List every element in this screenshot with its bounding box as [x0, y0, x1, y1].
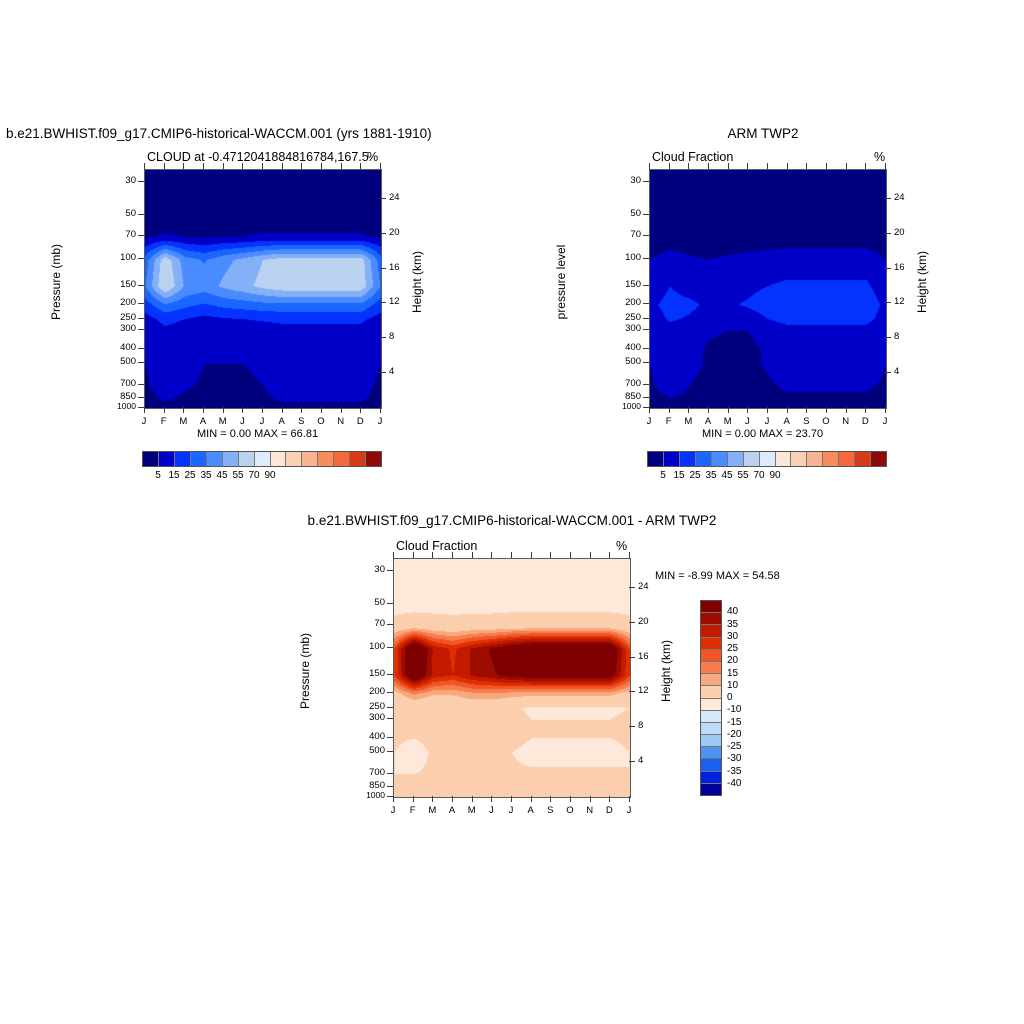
month-tick-label: J: [136, 416, 152, 427]
pressure-tick-label: 300: [100, 323, 136, 334]
colorbar-tick-label: 25: [727, 643, 757, 654]
diff-subtitle-left: Cloud Fraction: [396, 539, 477, 553]
height-tick-label: 16: [638, 651, 660, 662]
pressure-tick-label: 850: [100, 391, 136, 402]
colorbar-tick-label: 5: [649, 470, 677, 481]
month-tick-label: S: [798, 416, 814, 427]
colorbar-tick-label: 40: [727, 606, 757, 617]
pressure-tick-label: 50: [349, 597, 385, 608]
pressure-tick-label: 70: [349, 618, 385, 629]
pressure-tick-label: 300: [349, 712, 385, 723]
month-tick-label: M: [424, 805, 440, 816]
month-tick-label: N: [333, 416, 349, 427]
height-tick-label: 24: [894, 192, 916, 203]
colorbar-swatch: [143, 452, 159, 466]
colorbar-swatch: [701, 601, 721, 613]
model-ylabel-right: Height (km): [410, 222, 424, 342]
colorbar-tick-label: -35: [727, 766, 757, 777]
month-tick-label: A: [444, 805, 460, 816]
pressure-tick-label: 50: [605, 208, 641, 219]
month-tick-label: N: [582, 805, 598, 816]
pressure-tick-label: 400: [100, 342, 136, 353]
colorbar-swatch: [701, 711, 721, 723]
month-tick-label: A: [195, 416, 211, 427]
colorbar-swatch: [302, 452, 318, 466]
height-tick-label: 24: [389, 192, 411, 203]
model-heatmap-plot: [144, 169, 382, 409]
month-tick-label: M: [464, 805, 480, 816]
colorbar-tick-label: -10: [727, 704, 757, 715]
colorbar-swatch: [366, 452, 381, 466]
obs-ylabel-right: Height (km): [915, 222, 929, 342]
pressure-tick-label: 150: [605, 279, 641, 290]
month-tick-label: D: [601, 805, 617, 816]
pressure-tick-label: 850: [605, 391, 641, 402]
pressure-tick-label: 250: [100, 312, 136, 323]
colorbar-swatch: [175, 452, 191, 466]
height-tick-label: 4: [894, 366, 916, 377]
month-tick-label: A: [779, 416, 795, 427]
obs-subtitle-right: %: [874, 150, 885, 164]
colorbar-swatch: [701, 699, 721, 711]
colorbar-swatch: [744, 452, 760, 466]
month-tick-label: A: [523, 805, 539, 816]
obs-subtitle-left: Cloud Fraction: [652, 150, 733, 164]
month-tick-label: J: [739, 416, 755, 427]
obs-colorbar: [647, 451, 887, 467]
height-tick-label: 12: [894, 296, 916, 307]
month-tick-label: J: [234, 416, 250, 427]
pressure-tick-label: 70: [605, 229, 641, 240]
colorbar-tick-label: -15: [727, 717, 757, 728]
pressure-tick-label: 50: [100, 208, 136, 219]
month-tick-label: J: [254, 416, 270, 427]
month-tick-label: O: [313, 416, 329, 427]
colorbar-tick-label: 15: [160, 470, 188, 481]
colorbar-tick-label: -30: [727, 753, 757, 764]
pressure-tick-label: 150: [100, 279, 136, 290]
colorbar-swatch: [207, 452, 223, 466]
height-tick-label: 8: [638, 720, 660, 731]
pressure-tick-label: 100: [605, 252, 641, 263]
colorbar-swatch: [791, 452, 807, 466]
colorbar-swatch: [728, 452, 744, 466]
month-tick-label: M: [175, 416, 191, 427]
diff-minmax-text: MIN = -8.99 MAX = 54.58: [655, 570, 780, 582]
colorbar-swatch: [701, 625, 721, 637]
colorbar-swatch: [712, 452, 728, 466]
colorbar-swatch: [701, 747, 721, 759]
pressure-tick-label: 100: [349, 641, 385, 652]
height-tick-label: 8: [389, 331, 411, 342]
month-tick-label: M: [215, 416, 231, 427]
colorbar-tick-label: 70: [240, 470, 268, 481]
colorbar-swatch: [286, 452, 302, 466]
colorbar-swatch: [191, 452, 207, 466]
model-minmax-text: MIN = 0.00 MAX = 66.81: [197, 428, 318, 440]
colorbar-tick-label: 25: [176, 470, 204, 481]
pressure-tick-label: 400: [349, 731, 385, 742]
month-tick-label: O: [818, 416, 834, 427]
obs-heatmap-plot: [649, 169, 887, 409]
model-ylabel-left: Pressure (mb): [49, 222, 63, 342]
colorbar-tick-label: 20: [727, 655, 757, 666]
height-tick-label: 8: [894, 331, 916, 342]
height-tick-label: 16: [894, 262, 916, 273]
colorbar-tick-label: 90: [761, 470, 789, 481]
colorbar-swatch: [648, 452, 664, 466]
colorbar-swatch: [701, 723, 721, 735]
diff-panel-title: b.e21.BWHIST.f09_g17.CMIP6-historical-WA…: [308, 513, 717, 528]
colorbar-swatch: [701, 650, 721, 662]
pressure-tick-label: 100: [100, 252, 136, 263]
diff-ylabel-right: Height (km): [659, 611, 673, 731]
month-tick-label: J: [759, 416, 775, 427]
colorbar-swatch: [807, 452, 823, 466]
colorbar-tick-label: 25: [681, 470, 709, 481]
obs-ylabel-left: pressure level: [554, 222, 568, 342]
month-tick-label: J: [372, 416, 388, 427]
colorbar-tick-label: 35: [697, 470, 725, 481]
pressure-tick-label: 70: [100, 229, 136, 240]
height-tick-label: 12: [389, 296, 411, 307]
colorbar-swatch: [701, 674, 721, 686]
month-tick-label: S: [293, 416, 309, 427]
pressure-tick-label: 1000: [349, 790, 385, 800]
colorbar-swatch: [696, 452, 712, 466]
colorbar-swatch: [701, 759, 721, 771]
colorbar-swatch: [159, 452, 175, 466]
pressure-tick-label: 300: [605, 323, 641, 334]
height-tick-label: 16: [389, 262, 411, 273]
month-tick-label: M: [720, 416, 736, 427]
month-tick-label: D: [857, 416, 873, 427]
pressure-tick-label: 30: [605, 175, 641, 186]
month-tick-label: F: [661, 416, 677, 427]
height-tick-label: 4: [638, 755, 660, 766]
colorbar-tick-label: 5: [144, 470, 172, 481]
month-tick-label: J: [641, 416, 657, 427]
colorbar-swatch: [701, 662, 721, 674]
pressure-tick-label: 850: [349, 780, 385, 791]
colorbar-swatch: [823, 452, 839, 466]
colorbar-swatch: [839, 452, 855, 466]
colorbar-swatch: [760, 452, 776, 466]
model-colorbar: [142, 451, 382, 467]
model-panel-title: b.e21.BWHIST.f09_g17.CMIP6-historical-WA…: [6, 126, 432, 141]
month-tick-label: M: [680, 416, 696, 427]
colorbar-swatch: [701, 613, 721, 625]
height-tick-label: 20: [389, 227, 411, 238]
colorbar-tick-label: 55: [224, 470, 252, 481]
month-tick-label: D: [352, 416, 368, 427]
month-tick-label: J: [621, 805, 637, 816]
colorbar-swatch: [255, 452, 271, 466]
pressure-tick-label: 150: [349, 668, 385, 679]
height-tick-label: 20: [638, 616, 660, 627]
month-tick-label: J: [483, 805, 499, 816]
month-tick-label: O: [562, 805, 578, 816]
diff-colorbar: [700, 600, 722, 796]
month-tick-label: S: [542, 805, 558, 816]
diff-subtitle-right: %: [616, 539, 627, 553]
colorbar-tick-label: 90: [256, 470, 284, 481]
pressure-tick-label: 30: [100, 175, 136, 186]
colorbar-tick-label: 45: [713, 470, 741, 481]
obs-minmax-text: MIN = 0.00 MAX = 23.70: [702, 428, 823, 440]
month-tick-label: F: [405, 805, 421, 816]
colorbar-swatch: [701, 784, 721, 795]
colorbar-tick-label: -40: [727, 778, 757, 789]
colorbar-tick-label: 35: [727, 619, 757, 630]
pressure-tick-label: 200: [605, 297, 641, 308]
pressure-tick-label: 200: [100, 297, 136, 308]
colorbar-tick-label: 30: [727, 631, 757, 642]
colorbar-swatch: [701, 686, 721, 698]
colorbar-swatch: [776, 452, 792, 466]
colorbar-swatch: [271, 452, 287, 466]
pressure-tick-label: 500: [605, 356, 641, 367]
pressure-tick-label: 1000: [605, 401, 641, 411]
pressure-tick-label: 200: [349, 686, 385, 697]
month-tick-label: J: [385, 805, 401, 816]
colorbar-swatch: [871, 452, 886, 466]
pressure-tick-label: 500: [100, 356, 136, 367]
colorbar-swatch: [239, 452, 255, 466]
colorbar-tick-label: 15: [727, 668, 757, 679]
model-subtitle-left: CLOUD at -0.4712041884816784,167.5: [147, 150, 369, 164]
colorbar-swatch: [334, 452, 350, 466]
pressure-tick-label: 500: [349, 745, 385, 756]
height-tick-label: 12: [638, 685, 660, 696]
colorbar-tick-label: 10: [727, 680, 757, 691]
pressure-tick-label: 700: [100, 378, 136, 389]
month-tick-label: A: [274, 416, 290, 427]
month-tick-label: N: [838, 416, 854, 427]
month-tick-label: J: [877, 416, 893, 427]
colorbar-tick-label: 15: [665, 470, 693, 481]
colorbar-swatch: [680, 452, 696, 466]
colorbar-tick-label: 0: [727, 692, 757, 703]
colorbar-swatch: [701, 638, 721, 650]
pressure-tick-label: 400: [605, 342, 641, 353]
pressure-tick-label: 700: [605, 378, 641, 389]
month-tick-label: F: [156, 416, 172, 427]
colorbar-swatch: [318, 452, 334, 466]
pressure-tick-label: 1000: [100, 401, 136, 411]
diff-ylabel-left: Pressure (mb): [298, 611, 312, 731]
pressure-tick-label: 250: [605, 312, 641, 323]
height-tick-label: 24: [638, 581, 660, 592]
colorbar-swatch: [701, 772, 721, 784]
colorbar-tick-label: -25: [727, 741, 757, 752]
colorbar-tick-label: 35: [192, 470, 220, 481]
colorbar-tick-label: 55: [729, 470, 757, 481]
height-tick-label: 20: [894, 227, 916, 238]
obs-panel-title: ARM TWP2: [727, 126, 798, 141]
colorbar-swatch: [223, 452, 239, 466]
height-tick-label: 4: [389, 366, 411, 377]
colorbar-swatch: [350, 452, 366, 466]
colorbar-tick-label: 45: [208, 470, 236, 481]
colorbar-tick-label: -20: [727, 729, 757, 740]
pressure-tick-label: 700: [349, 767, 385, 778]
diff-heatmap-plot: [393, 558, 631, 798]
colorbar-tick-label: 70: [745, 470, 773, 481]
month-tick-label: J: [503, 805, 519, 816]
colorbar-swatch: [701, 735, 721, 747]
pressure-tick-label: 30: [349, 564, 385, 575]
model-subtitle-right: %: [367, 150, 378, 164]
pressure-tick-label: 250: [349, 701, 385, 712]
colorbar-swatch: [855, 452, 871, 466]
month-tick-label: A: [700, 416, 716, 427]
colorbar-swatch: [664, 452, 680, 466]
